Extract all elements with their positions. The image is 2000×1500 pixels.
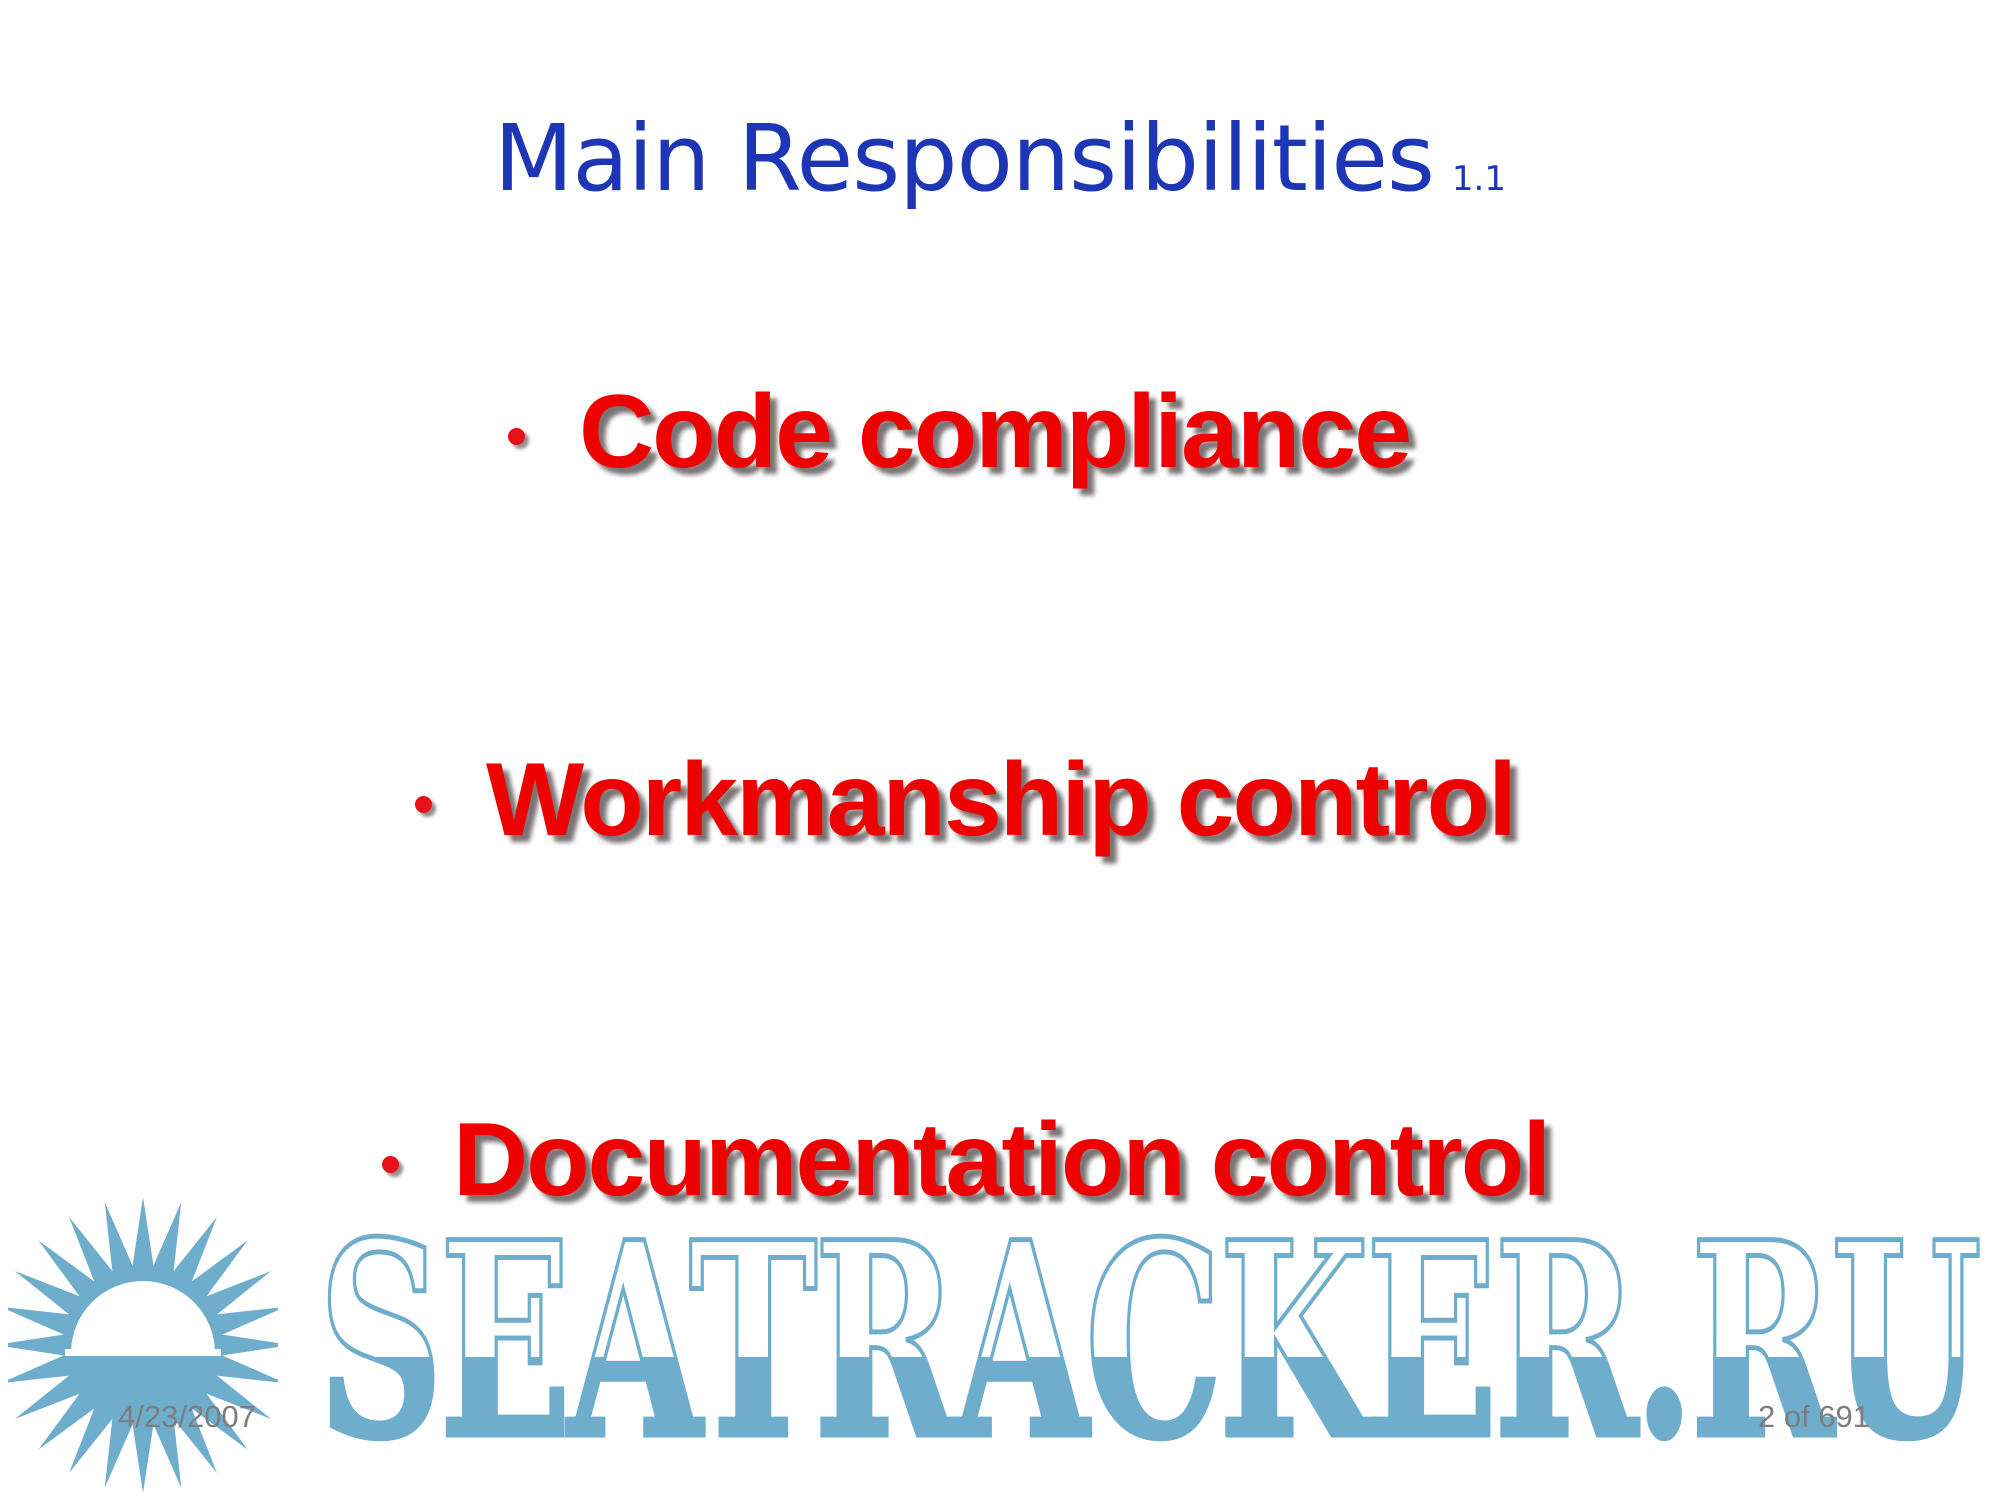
slide-canvas: Main Responsibilities1.1 Code compliance… bbox=[0, 0, 2000, 1500]
watermark-wordmark: SEATRACKER.RU bbox=[318, 1203, 1998, 1493]
list-item: Documentation control bbox=[382, 1108, 1549, 1212]
title-section-number: 1.1 bbox=[1452, 159, 1506, 199]
watermark-text: SEATRACKER.RU bbox=[318, 1203, 1980, 1493]
watermark: SEATRACKER.RU bbox=[0, 1195, 2000, 1500]
page-title: Main Responsibilities1.1 bbox=[0, 105, 2000, 212]
bullet-dot-icon bbox=[415, 796, 432, 813]
list-item-label: Code compliance bbox=[579, 380, 1410, 484]
rising-sun-starburst-icon bbox=[8, 1195, 278, 1495]
list-item: Code compliance bbox=[508, 380, 1410, 484]
list-item-label: Workmanship control bbox=[486, 748, 1515, 852]
bullet-dot-icon bbox=[382, 1156, 399, 1173]
list-item: Workmanship control bbox=[415, 748, 1515, 852]
title-main-text: Main Responsibilities bbox=[494, 105, 1434, 212]
list-item-label: Documentation control bbox=[453, 1108, 1549, 1212]
bullet-dot-icon bbox=[508, 428, 525, 445]
footer-date: 4/23/2007 bbox=[118, 1399, 256, 1435]
footer-page-number: 2 of 691 bbox=[1758, 1399, 1870, 1435]
